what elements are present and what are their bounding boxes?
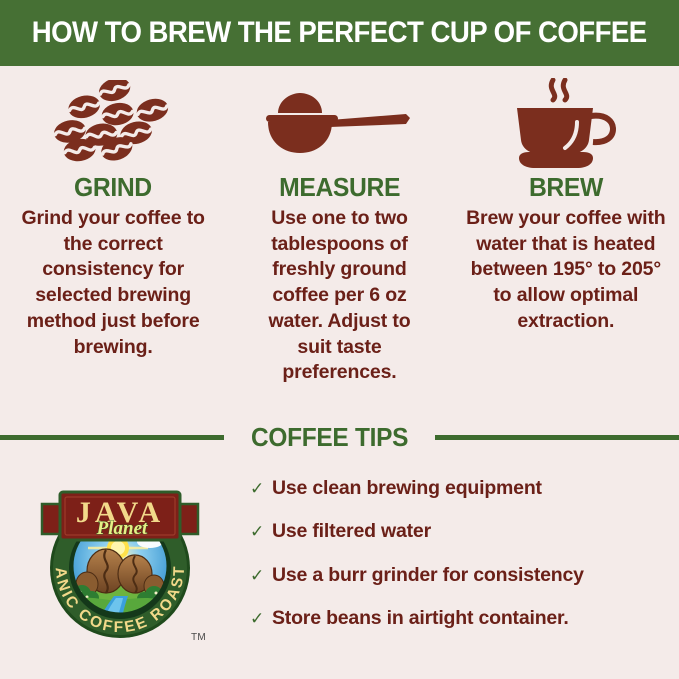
tip-text: Use clean brewing equipment [272,478,542,499]
list-item: ✓ Store beans in airtight container. [250,608,670,629]
page-title: HOW TO BREW THE PERFECT CUP OF COFFEE [32,18,647,48]
measuring-spoon-icon [264,78,414,170]
tip-text: Use a burr grinder for consistency [272,565,584,586]
list-item: ✓ Use clean brewing equipment [250,478,670,499]
check-icon: ✓ [250,610,272,627]
steps-row: GRIND Grind your coffee to the correct c… [0,72,679,412]
divider-rule-left [0,435,224,440]
header-banner: HOW TO BREW THE PERFECT CUP OF COFFEE [0,0,679,66]
list-item: ✓ Use a burr grinder for consistency [250,565,670,586]
step-heading-measure: MEASURE [279,174,400,200]
step-body-grind: Grind your coffee to the correct consist… [13,206,213,360]
logo-brand-script: Planet [96,518,148,539]
step-column-grind: GRIND Grind your coffee to the correct c… [0,72,226,360]
step-column-brew: BREW Brew your coffee with water that is… [453,72,679,335]
step-column-measure: MEASURE Use one to two tablespoons of fr… [226,72,452,386]
coffee-tips-divider: COFFEE TIPS [0,424,679,450]
trademark-mark: TM [191,632,206,643]
infographic-page: HOW TO BREW THE PERFECT CUP OF COFFEE [0,0,679,679]
step-heading-grind: GRIND [74,174,152,200]
tip-text: Use filtered water [272,521,431,542]
list-item: ✓ Use filtered water [250,521,670,542]
coffee-tips-list: ✓ Use clean brewing equipment ✓ Use filt… [250,478,670,652]
coffee-cup-icon [503,78,629,170]
divider-rule-right [435,435,679,440]
step-heading-brew: BREW [529,174,603,200]
java-planet-logo: ORGANIC COFFEE ROASTERS [30,476,210,651]
coffee-beans-icon [48,78,178,170]
coffee-tips-title: COFFEE TIPS [230,424,429,450]
check-icon: ✓ [250,480,272,497]
step-body-brew: Brew your coffee with water that is heat… [466,206,666,335]
check-icon: ✓ [250,523,272,540]
check-icon: ✓ [250,567,272,584]
tip-text: Store beans in airtight container. [272,608,569,629]
step-body-measure: Use one to two tablespoons of freshly gr… [253,206,425,386]
